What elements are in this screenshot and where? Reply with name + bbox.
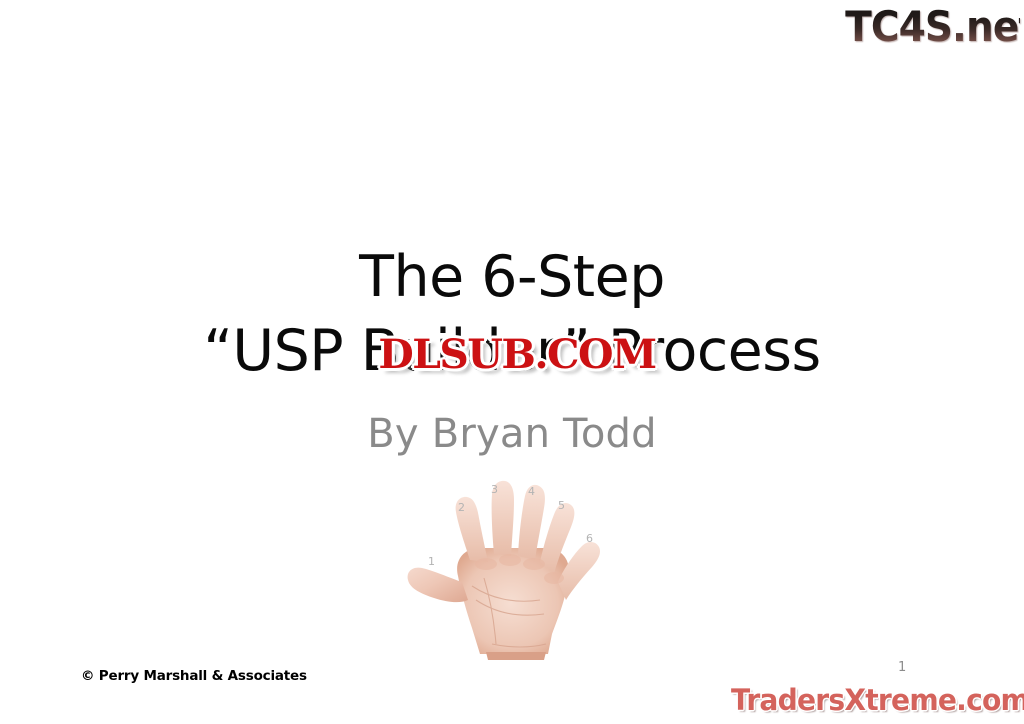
hand-illustration-svg: [406, 468, 618, 660]
finger-label-5: 5: [558, 500, 565, 512]
subtitle-author: By Bryan Todd: [0, 406, 1024, 462]
finger-label-3: 3: [491, 484, 498, 496]
finger-label-2: 2: [458, 502, 465, 514]
tradersxtreme-logo: TradersXtreme.com: [731, 683, 1022, 719]
slide-page-number: 1: [898, 660, 906, 675]
dlsub-watermark: DLSUB.COM: [364, 330, 670, 382]
finger-label-6: 6: [586, 533, 593, 545]
wrist: [486, 652, 546, 660]
hand-with-six-fingers-image: 1 2 3 4 5 6: [406, 468, 618, 660]
finger-label-1: 1: [428, 556, 435, 568]
title-line-1: The 6-Step: [0, 240, 1024, 314]
finger-6-extra: [558, 542, 600, 600]
finger-label-4: 4: [528, 486, 535, 498]
presentation-slide: TC4S.net The 6-Step “USP Builder” Proces…: [0, 0, 1024, 724]
copyright-notice: © Perry Marshall & Associates: [81, 668, 307, 684]
tc4s-logo: TC4S.net: [845, 2, 1020, 54]
